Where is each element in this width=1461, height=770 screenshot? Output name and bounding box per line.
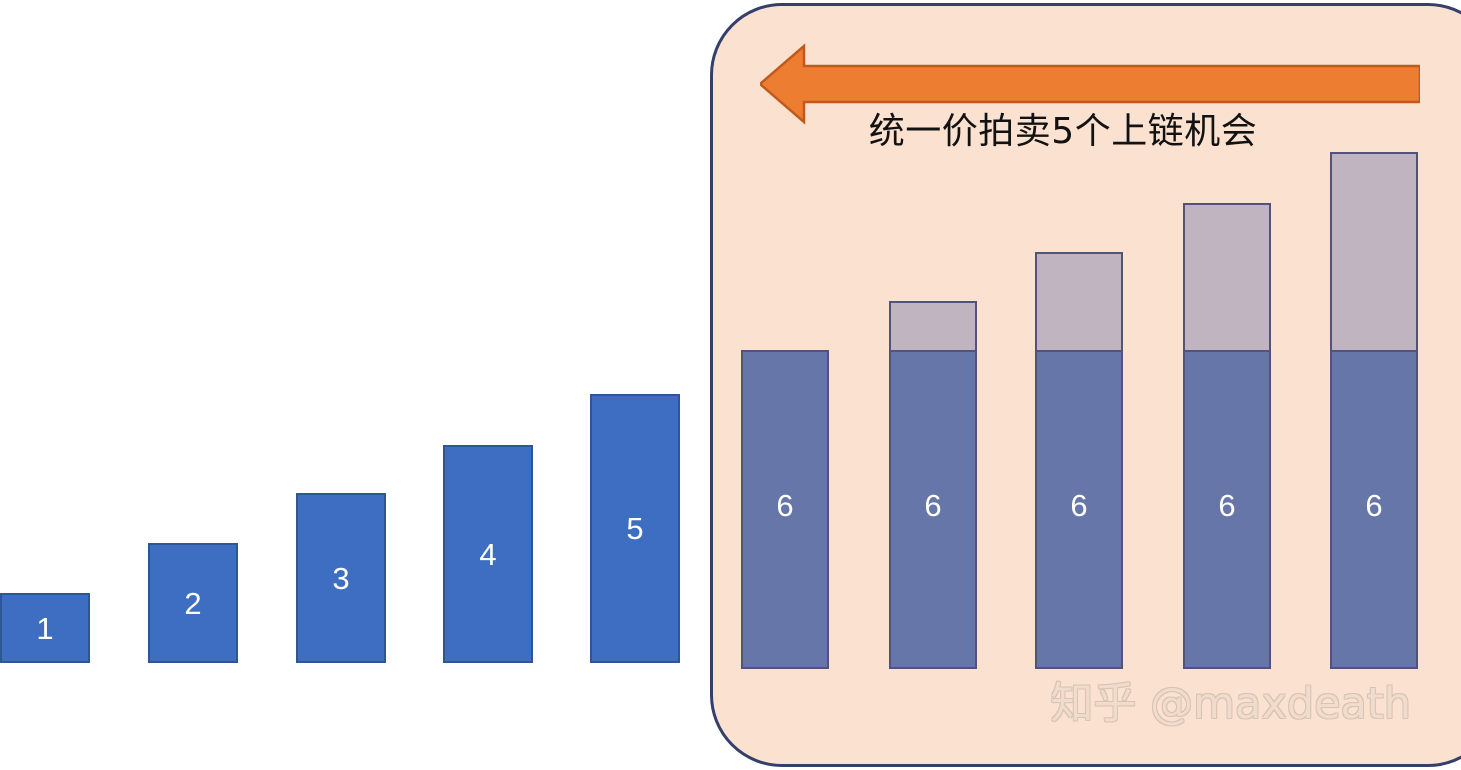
stacked-bar-4-paid: 6 — [1183, 350, 1271, 669]
left-bar-5: 5 — [590, 394, 680, 663]
stacked-bar-3-label: 6 — [1070, 490, 1087, 521]
left-bar-2: 2 — [148, 543, 238, 663]
left-bar-3-label: 3 — [332, 563, 349, 594]
stacked-bar-5-label: 6 — [1365, 490, 1382, 521]
left-bar-5-label: 5 — [626, 513, 643, 544]
stacked-bar-4-label: 6 — [1218, 490, 1235, 521]
stacked-bar-5-surplus — [1330, 152, 1418, 352]
stacked-bar-5-paid: 6 — [1330, 350, 1418, 669]
watermark: 知乎 @maxdeath — [1050, 683, 1411, 726]
stacked-bar-1-label: 6 — [776, 490, 793, 521]
stacked-bar-2-label: 6 — [924, 490, 941, 521]
left-bar-1-label: 1 — [36, 613, 53, 644]
stacked-bar-2-paid: 6 — [889, 350, 977, 669]
stacked-bar-3-surplus — [1035, 252, 1123, 352]
stacked-bar-4-surplus — [1183, 203, 1271, 352]
left-bar-4-label: 4 — [479, 539, 496, 570]
left-bar-3: 3 — [296, 493, 386, 663]
uniform-price-panel: 统一价拍卖5个上链机会 6 6 6 — [710, 3, 1461, 767]
left-bar-4: 4 — [443, 445, 533, 663]
left-bar-1: 1 — [0, 593, 90, 663]
diagram-canvas: 1 2 3 4 5 统一价拍卖5个上链机会 6 — [0, 0, 1461, 770]
left-bar-chart: 1 2 3 4 5 — [0, 0, 700, 770]
left-bar-2-label: 2 — [184, 588, 201, 619]
stacked-bar-2-surplus — [889, 301, 977, 352]
stacked-bar-chart: 6 6 6 6 — [713, 6, 1461, 767]
stacked-bar-1-paid: 6 — [741, 350, 829, 669]
stacked-bar-3-paid: 6 — [1035, 350, 1123, 669]
